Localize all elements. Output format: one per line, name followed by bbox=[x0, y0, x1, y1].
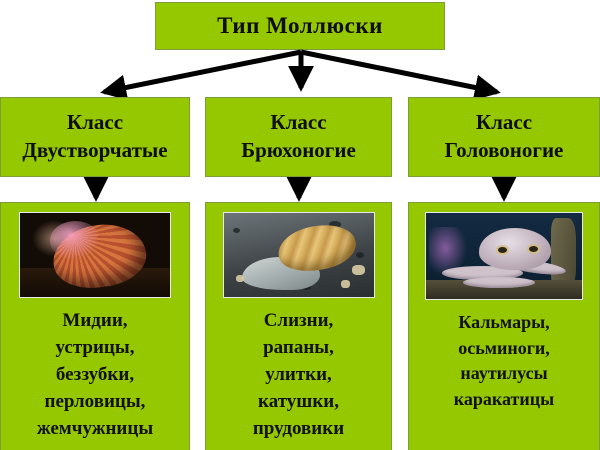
list-item: жемчужницы bbox=[37, 416, 153, 443]
list-item: каракатицы bbox=[454, 387, 554, 413]
list-item: наутилусы bbox=[454, 361, 554, 387]
class-label-word: Класс bbox=[270, 109, 326, 137]
diagram-title-box: Тип Моллюски bbox=[155, 2, 445, 50]
examples-box-gastropoda: Слизни, рапаны, улитки, катушки, прудови… bbox=[205, 202, 392, 450]
class-box-cephalopoda: Класс Головоногие bbox=[408, 97, 600, 177]
list-item: улитки, bbox=[253, 362, 344, 389]
class-box-gastropoda: Класс Брюхоногие bbox=[205, 97, 392, 177]
octopus-photo bbox=[425, 212, 583, 300]
list-item: Мидии, bbox=[37, 308, 153, 335]
list-item: беззубки, bbox=[37, 362, 153, 389]
class-name-gastropoda: Брюхоногие bbox=[241, 137, 356, 165]
arrow-root-to-bivalvia bbox=[104, 52, 301, 92]
class-label-word: Класс bbox=[476, 109, 532, 137]
list-item: катушки, bbox=[253, 389, 344, 416]
list-item: Кальмары, bbox=[454, 310, 554, 336]
page-title: Тип Моллюски bbox=[217, 13, 383, 39]
mollusc-classification-diagram: Тип Моллюски Класс Двустворчатые Класс Б… bbox=[0, 0, 600, 450]
class-name-bivalvia: Двустворчатые bbox=[22, 137, 167, 165]
arrow-root-to-cephalopoda bbox=[301, 52, 497, 92]
class-name-cephalopoda: Головоногие bbox=[445, 137, 564, 165]
list-item: осьминоги, bbox=[454, 336, 554, 362]
examples-box-cephalopoda: Кальмары, осьминоги, наутилусы каракатиц… bbox=[408, 202, 600, 450]
class-box-bivalvia: Класс Двустворчатые bbox=[0, 97, 190, 177]
snail-photo bbox=[223, 212, 375, 298]
examples-box-bivalvia: Мидии, устрицы, беззубки, перловицы, жем… bbox=[0, 202, 190, 450]
class-label-word: Класс bbox=[67, 109, 123, 137]
list-item: перловицы, bbox=[37, 389, 153, 416]
list-item: устрицы, bbox=[37, 335, 153, 362]
example-list-gastropoda: Слизни, рапаны, улитки, катушки, прудови… bbox=[253, 308, 344, 443]
list-item: прудовики bbox=[253, 416, 344, 443]
example-list-bivalvia: Мидии, устрицы, беззубки, перловицы, жем… bbox=[37, 308, 153, 443]
example-list-cephalopoda: Кальмары, осьминоги, наутилусы каракатиц… bbox=[454, 310, 554, 412]
list-item: рапаны, bbox=[253, 335, 344, 362]
list-item: Слизни, bbox=[253, 308, 344, 335]
scallop-photo bbox=[19, 212, 171, 298]
